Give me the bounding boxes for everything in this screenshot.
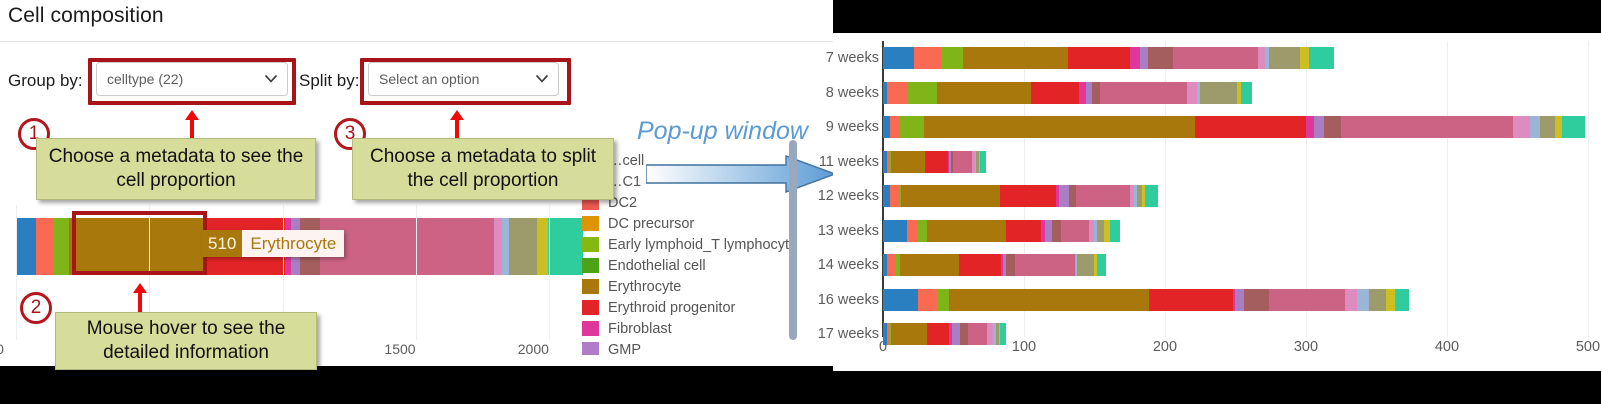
step-3-callout: Choose a metadata to split the cell prop… [352, 138, 614, 200]
bar-segment[interactable] [900, 254, 959, 276]
bar-segment[interactable] [1130, 47, 1140, 69]
bar-segment[interactable] [883, 116, 890, 138]
bar-segment[interactable] [1300, 47, 1308, 69]
bar-segment[interactable] [1092, 82, 1100, 104]
window-scroll-handle[interactable] [789, 140, 797, 340]
stacked-bar-row[interactable] [883, 185, 1158, 207]
bar-segment[interactable] [1077, 254, 1094, 276]
group-by-label: Group by: [8, 71, 83, 91]
stacked-bar-row[interactable] [883, 82, 1252, 104]
bar-segment[interactable] [883, 185, 890, 207]
y-axis-tick: 17 weeks [818, 326, 879, 342]
page-title: Cell composition [8, 4, 164, 28]
y-axis-tick: 9 weeks [826, 119, 879, 135]
title-divider [0, 41, 833, 42]
x-axis-tick: 100 [1012, 339, 1036, 355]
bar-segment[interactable] [927, 323, 950, 345]
legend-label: GMP [608, 342, 641, 356]
bar-segment[interactable] [494, 218, 502, 275]
y-axis-tick: 7 weeks [826, 50, 879, 66]
bar-segment[interactable] [953, 151, 971, 173]
chevron-down-icon [263, 75, 279, 83]
arrow-to-split-by [450, 110, 464, 138]
legend-swatch-icon [582, 300, 599, 315]
y-axis-tick: 16 weeks [818, 292, 879, 308]
bar-segment[interactable] [907, 82, 937, 104]
stacked-bar-row[interactable] [883, 323, 1006, 345]
legend-swatch-icon [582, 237, 599, 252]
hovered-segment-highlight [72, 211, 207, 275]
bar-segment[interactable] [1369, 289, 1386, 311]
legend-label: Erythroid progenitor [608, 300, 735, 316]
bar-segment[interactable] [1110, 220, 1120, 242]
legend-swatch-icon [582, 216, 599, 231]
bar-segment[interactable] [502, 218, 509, 275]
split-by-select[interactable]: Select an option [368, 62, 559, 96]
group-by-value: celltype (22) [97, 71, 263, 87]
bar-segment[interactable] [320, 218, 493, 275]
bar-segment[interactable] [1097, 220, 1104, 242]
bar-segment[interactable] [1195, 116, 1306, 138]
bar-segment[interactable] [901, 185, 1000, 207]
bar-segment[interactable] [1100, 82, 1187, 104]
bar-segment[interactable] [914, 47, 941, 69]
legend-swatch-icon [582, 342, 599, 355]
arrow-to-group-by [185, 110, 199, 138]
bar-segment[interactable] [1059, 185, 1069, 207]
x-axis-tick: 2000 [518, 341, 549, 357]
bar-segment[interactable] [941, 47, 964, 69]
bar-segment[interactable] [1149, 289, 1232, 311]
bar-segment[interactable] [1269, 47, 1300, 69]
bar-segment[interactable] [1000, 185, 1056, 207]
popup-window-panel: 01002003004005007 weeks8 weeks9 weeks11 … [833, 33, 1601, 371]
bar-segment[interactable] [963, 47, 1067, 69]
bar-segment[interactable] [1173, 47, 1258, 69]
bar-segment[interactable] [1031, 82, 1079, 104]
gridline [16, 205, 17, 340]
bar-segment[interactable] [1241, 82, 1252, 104]
controls-bar: Group by: celltype (22) Split by: Select… [0, 58, 833, 106]
bar-segment[interactable] [1097, 254, 1105, 276]
bar-segment[interactable] [1045, 220, 1052, 242]
popup-window-arrow-icon [646, 155, 836, 193]
legend-label: Fibroblast [608, 321, 672, 337]
bar-segment[interactable] [1309, 47, 1334, 69]
bar-segment[interactable] [1061, 220, 1089, 242]
bar-segment[interactable] [1244, 289, 1269, 311]
bar-segment[interactable] [1314, 116, 1324, 138]
bar-segment[interactable] [1324, 116, 1341, 138]
bar-segment[interactable] [927, 220, 1006, 242]
bar-segment[interactable] [1357, 289, 1370, 311]
legend-item[interactable]: GMP [582, 339, 832, 355]
y-axis-tick: 11 weeks [819, 154, 879, 170]
legend-swatch-icon [582, 258, 599, 273]
chevron-down-icon [534, 75, 550, 83]
bar-segment[interactable] [1540, 116, 1556, 138]
arrow-to-hovered-bar [133, 283, 147, 313]
stacked-bar-row[interactable] [883, 254, 1106, 276]
bar-segment[interactable] [1076, 185, 1130, 207]
bar-segment[interactable] [891, 151, 925, 173]
bar-segment[interactable] [937, 82, 1031, 104]
bar-segment[interactable] [1200, 82, 1237, 104]
gridline [416, 205, 417, 340]
stacked-bar-row[interactable] [883, 151, 986, 173]
y-axis-tick: 13 weeks [818, 223, 879, 239]
bar-segment[interactable] [537, 218, 548, 275]
bar-segment[interactable] [1555, 116, 1562, 138]
bar-segment[interactable] [509, 218, 538, 275]
bar-segment[interactable] [900, 116, 924, 138]
x-axis-tick: 0 [0, 341, 4, 357]
bar-segment[interactable] [1006, 254, 1016, 276]
bar-segment[interactable] [887, 82, 907, 104]
stacked-bar-row[interactable] [883, 220, 1120, 242]
bar-segment[interactable] [1069, 185, 1076, 207]
x-axis-tick: 500 [1576, 339, 1600, 355]
bar-segment[interactable] [960, 323, 967, 345]
bar-segment[interactable] [887, 254, 895, 276]
bar-segment[interactable] [1562, 116, 1585, 138]
bar-segment[interactable] [36, 218, 53, 275]
bar-segment[interactable] [1145, 185, 1158, 207]
legend-label: DC precursor [608, 216, 694, 232]
bar-segment[interactable] [1395, 289, 1409, 311]
group-by-select[interactable]: celltype (22) [96, 62, 288, 96]
bar-segment[interactable] [1258, 47, 1265, 69]
stacked-bar-row[interactable] [883, 116, 1585, 138]
bar-segment[interactable] [1235, 289, 1243, 311]
gridline [549, 205, 550, 340]
bar-segment[interactable] [1015, 254, 1074, 276]
bar-segment[interactable] [980, 151, 986, 173]
legend-swatch-icon [582, 321, 599, 336]
x-axis-tick: 300 [1294, 339, 1318, 355]
bar-segment[interactable] [1341, 116, 1513, 138]
bar-segment[interactable] [1269, 289, 1345, 311]
x-axis-tick: 200 [1153, 339, 1177, 355]
bar-segment[interactable] [883, 47, 914, 69]
bar-segment[interactable] [924, 116, 1195, 138]
bar-segment[interactable] [918, 289, 936, 311]
step-2-callout: Mouse hover to see the detailed informat… [55, 312, 317, 370]
bar-segment[interactable] [890, 185, 898, 207]
split-by-value: Select an option [369, 71, 534, 87]
bar-segment[interactable] [53, 218, 68, 275]
legend-swatch-icon [582, 279, 599, 294]
bar-segment[interactable] [968, 323, 988, 345]
bar-segment[interactable] [918, 220, 926, 242]
popup-window-label: Pop-up window [637, 117, 808, 146]
x-axis-tick: 1500 [384, 341, 415, 357]
bar-segment[interactable] [890, 116, 900, 138]
bar-segment[interactable] [1530, 116, 1540, 138]
hover-tooltip: 510 Erythrocyte [202, 230, 344, 257]
legend-label: Early lymphoid_T lymphocyte [608, 237, 797, 253]
y-axis-tick: 14 weeks [818, 257, 879, 273]
bar-segment[interactable] [548, 218, 583, 275]
bar-segment[interactable] [883, 220, 907, 242]
gridline [1447, 41, 1448, 337]
bar-segment[interactable] [1052, 220, 1060, 242]
bar-segment[interactable] [1306, 116, 1314, 138]
legend-label: Erythrocyte [608, 279, 681, 295]
bar-segment[interactable] [1006, 220, 1041, 242]
tooltip-value: 510 [202, 230, 242, 257]
y-axis-tick: 12 weeks [818, 188, 879, 204]
bar-segment[interactable] [959, 254, 1001, 276]
step-1-callout: Choose a metadata to see the cell propor… [36, 138, 316, 200]
screenshot-root: Cell composition Group by: celltype (22)… [0, 0, 1601, 404]
bar-segment[interactable] [952, 323, 960, 345]
legend-label: Endothelial cell [608, 258, 706, 274]
bar-segment[interactable] [883, 289, 918, 311]
step-2-badge: 2 [20, 292, 52, 324]
bar-segment[interactable] [891, 323, 926, 345]
bar-segment[interactable] [1068, 47, 1130, 69]
bar-segment[interactable] [16, 218, 36, 275]
bar-segment[interactable] [949, 289, 1149, 311]
split-by-label: Split by: [299, 71, 359, 91]
gestational-age-chart: 01002003004005007 weeks8 weeks9 weeks11 … [833, 33, 1601, 371]
bar-segment[interactable] [937, 289, 950, 311]
bar-segment[interactable] [1345, 289, 1356, 311]
bar-segment[interactable] [1386, 289, 1394, 311]
y-axis-tick: 8 weeks [826, 85, 879, 101]
bar-segment[interactable] [1148, 47, 1173, 69]
stacked-bar-row[interactable] [883, 289, 1409, 311]
bar-segment[interactable] [1513, 116, 1530, 138]
gridline [1588, 41, 1589, 337]
bar-segment[interactable] [1187, 82, 1197, 104]
stacked-bar-row[interactable] [883, 47, 1334, 69]
bar-segment[interactable] [925, 151, 948, 173]
bar-segment[interactable] [1140, 47, 1148, 69]
tooltip-label: Erythrocyte [242, 230, 344, 257]
bar-segment[interactable] [907, 220, 918, 242]
x-axis-tick: 400 [1435, 339, 1459, 355]
bar-segment[interactable] [1079, 82, 1086, 104]
bar-segment[interactable] [1000, 323, 1006, 345]
